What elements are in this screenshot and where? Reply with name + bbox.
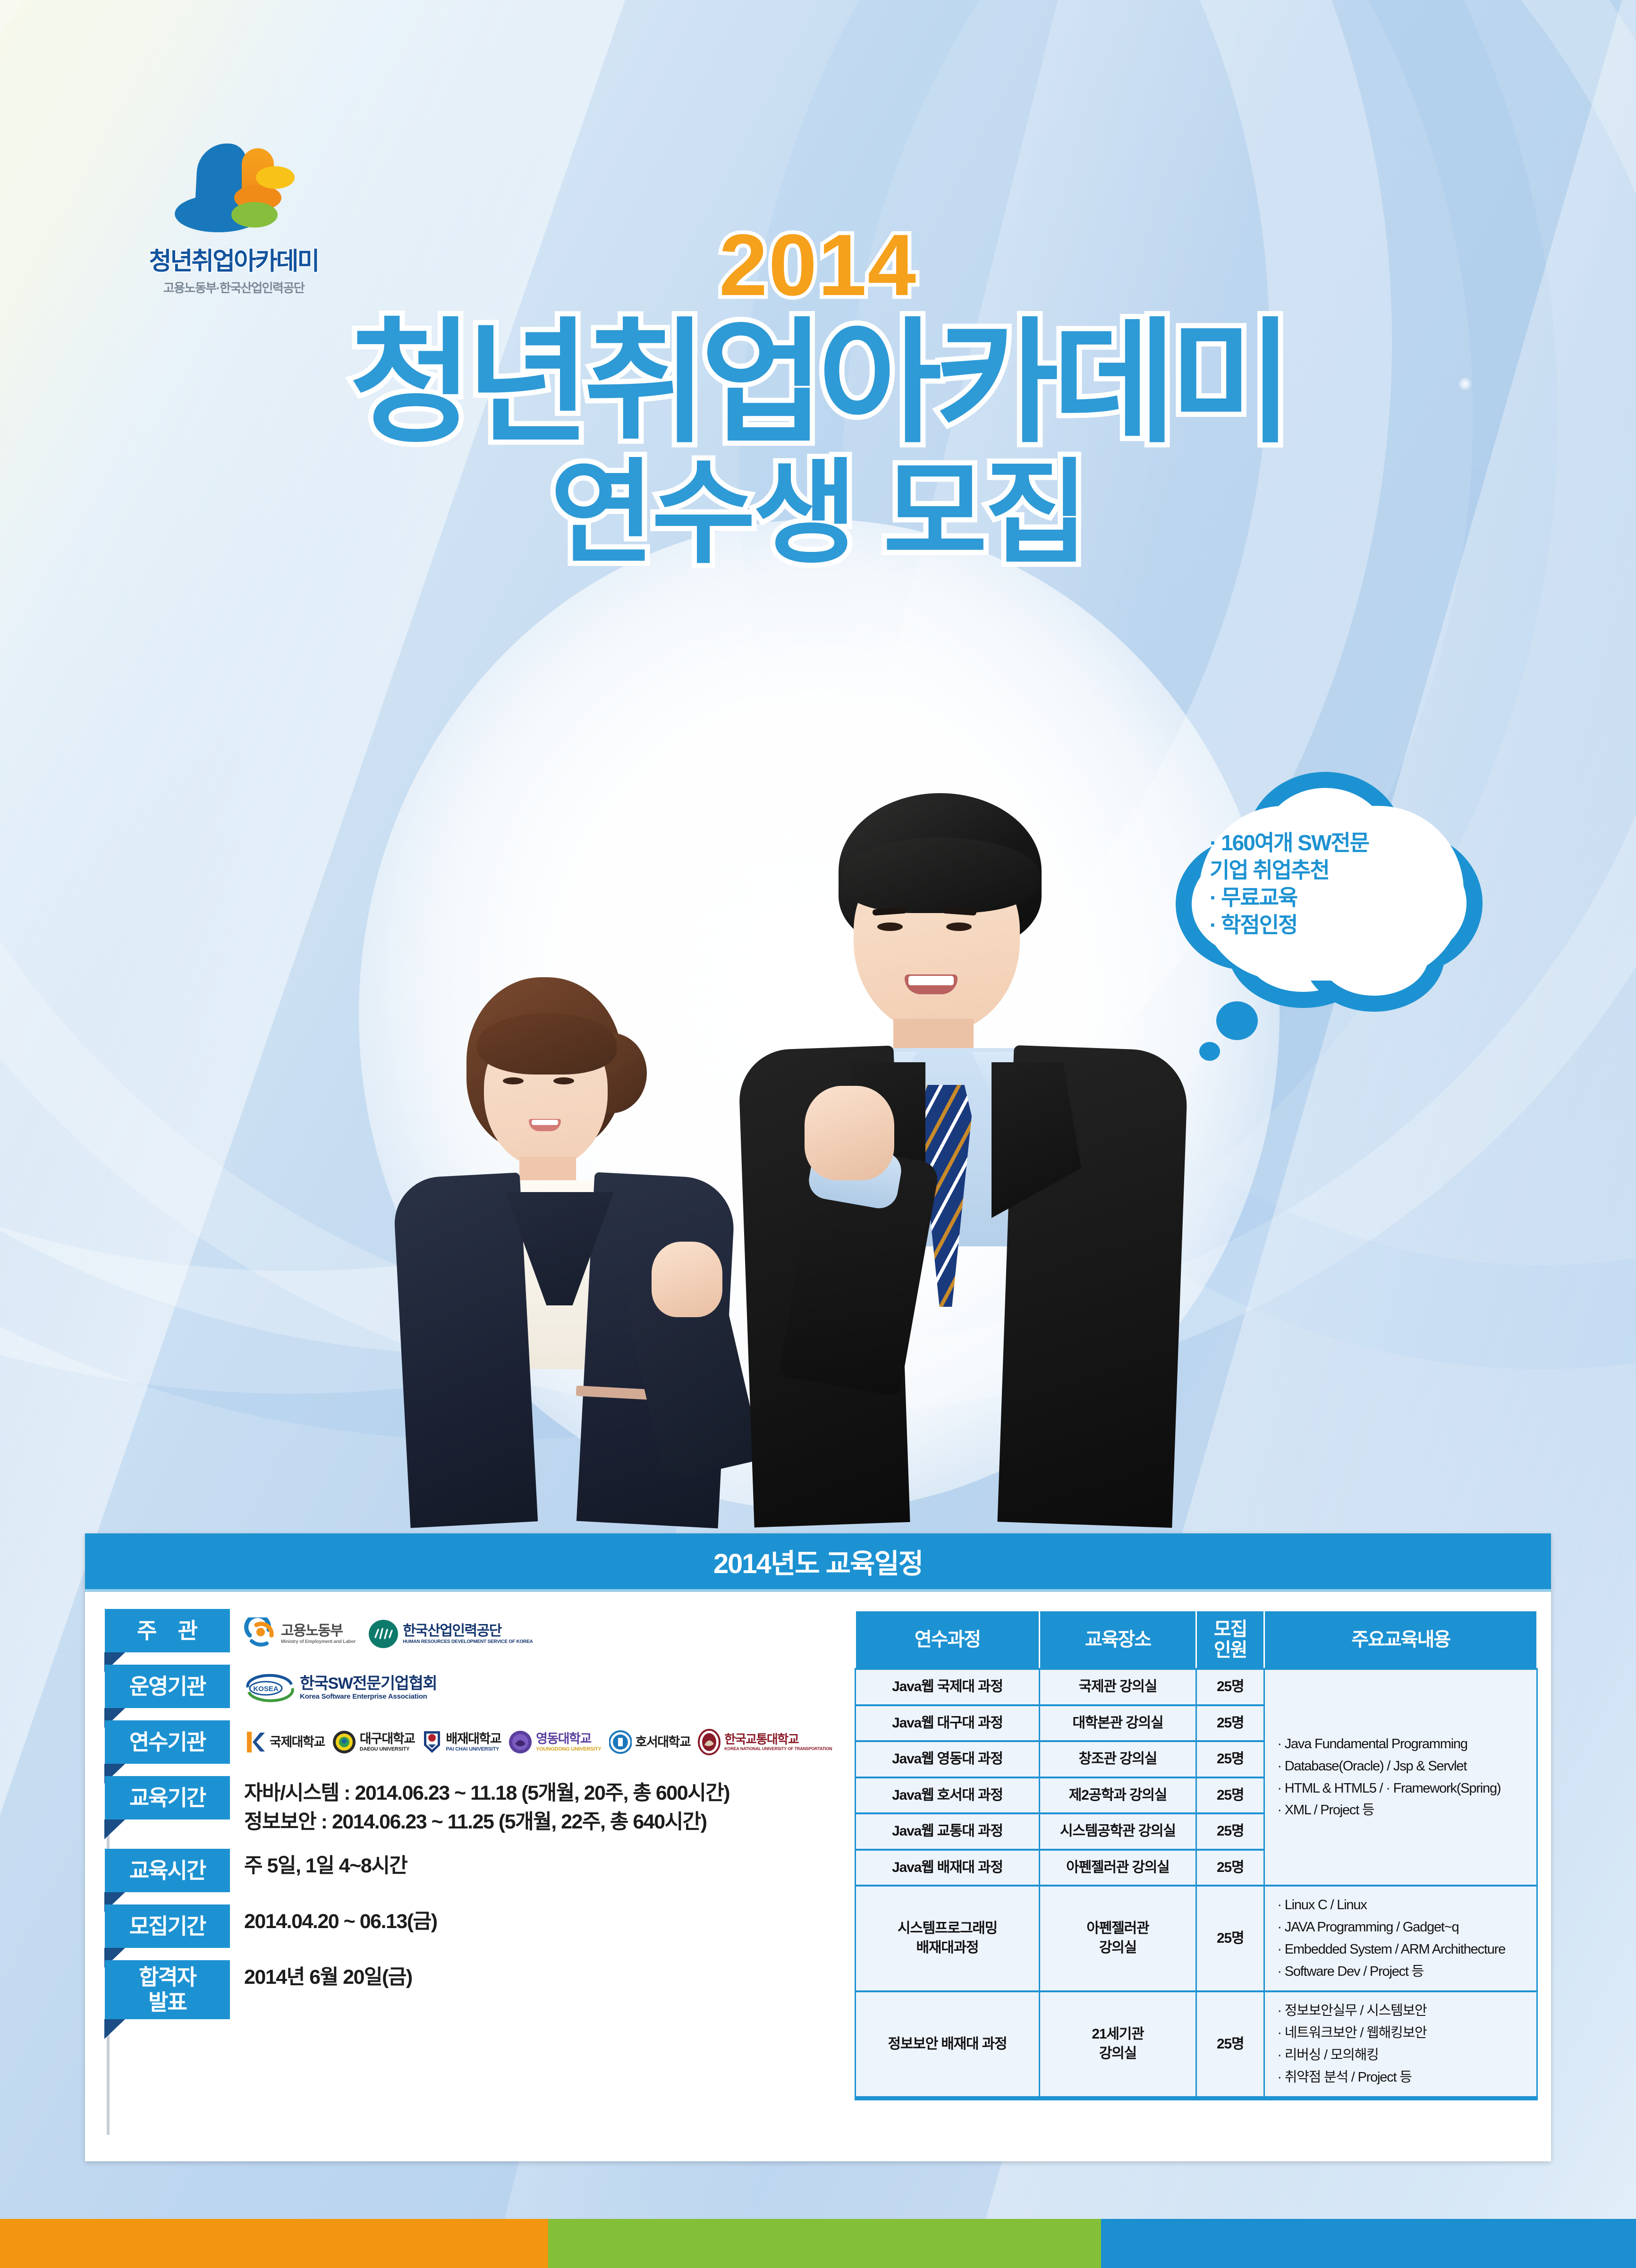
- male-student-figure: [727, 793, 1199, 1525]
- logo-item: 호서대학교: [609, 1730, 691, 1754]
- table-row: 정보보안 배재대 과정 21세기관 강의실 25명 · 정보보안실무 / 시스템…: [856, 1991, 1537, 2098]
- kosea-logo-icon: KOSEA: [244, 1673, 296, 1702]
- info-value: 고용노동부 Ministry of Employment and Labor: [230, 1609, 842, 1650]
- paichai-university-logo-icon: [422, 1729, 442, 1755]
- logo-korean: 한국교통대학교: [724, 1733, 832, 1745]
- logo-item: 영동대학교 YOUNGDONG UNIVERSITY: [509, 1730, 601, 1754]
- info-text-line: 주 5일, 1일 4~8시간: [244, 1852, 842, 1880]
- logo-text: 한국교통대학교 KOREA NATIONAL UNIVERSITY OF TRA…: [724, 1733, 832, 1751]
- logo-text: 한국SW전문기업협회 Korea Software Enterprise Ass…: [300, 1676, 437, 1700]
- info-row-host: 주관 고용노동부: [105, 1609, 842, 1652]
- footer-segment-orange: [0, 2219, 548, 2268]
- poster-root: 청년취업아카데미 고용노동부·한국산업인력공단 2014 청년취업아카데미 연수…: [0, 0, 1636, 2268]
- cell-curriculum: · 정보보안실무 / 시스템보안 · 네트워크보안 / 웹해킹보안 · 리버싱 …: [1264, 1991, 1537, 2098]
- korea-national-university-of-transportation-logo-icon: [698, 1729, 721, 1755]
- cell-quota: 25명: [1196, 1991, 1264, 2098]
- logo-item: 고용노동부 Ministry of Employment and Labor: [244, 1617, 356, 1650]
- logo-english: HUMAN RESOURCES DEVELOPMENT SERVICE OF K…: [403, 1640, 533, 1644]
- logo-item: 배재대학교 PAI CHAI UNIVERSITY: [422, 1729, 501, 1755]
- daegu-university-logo-icon: [332, 1730, 356, 1754]
- cell-location: 창조관 강의실: [1039, 1741, 1196, 1777]
- headline-line2: 연수생 모집: [0, 450, 1636, 577]
- cell-quota: 25명: [1196, 1850, 1264, 1886]
- cell-quota: 25명: [1196, 1777, 1264, 1814]
- table-row: 시스템프로그래밍 배재대과정 아펜젤러관 강의실 25명 · Linux C /…: [856, 1886, 1537, 1991]
- panel-title: 2014년도 교육일정: [85, 1533, 1551, 1589]
- info-value: 2014.04.20 ~ 06.13(금): [230, 1904, 842, 1936]
- logo-text: 배재대학교 PAI CHAI UNIVERSITY: [446, 1733, 501, 1752]
- cell-location: 대학본관 강의실: [1039, 1705, 1196, 1742]
- info-column: 주관 고용노동부: [96, 1609, 842, 2147]
- logo-english: PAI CHAI UNIVERSITY: [446, 1747, 501, 1752]
- logo-korean: 배재대학교: [446, 1733, 501, 1745]
- info-tag: 합격자 발표: [105, 1960, 230, 2019]
- info-value: 자바/시스템 : 2014.06.23 ~ 11.18 (5개월, 20주, 총…: [230, 1776, 842, 1836]
- logo-item: KOSEA 한국SW전문기업협회 Korea Software Enterpri…: [244, 1673, 437, 1702]
- cell-curriculum: · Linux C / Linux · JAVA Programming / G…: [1264, 1886, 1537, 1991]
- cell-quota: 25명: [1196, 1669, 1264, 1705]
- logo-korean: 영동대학교: [536, 1733, 601, 1745]
- info-text-line: 자바/시스템 : 2014.06.23 ~ 11.18 (5개월, 20주, 총…: [244, 1779, 842, 1808]
- info-text-line: 2014.04.20 ~ 06.13(금): [244, 1907, 842, 1936]
- cell-course: Java웹 교통대 과정: [856, 1813, 1040, 1850]
- info-tag: 주관: [105, 1609, 230, 1652]
- table-row: Java웹 국제대 과정 국제관 강의실 25명 · Java Fundamen…: [856, 1669, 1537, 1705]
- cell-location: 국제관 강의실: [1039, 1669, 1196, 1705]
- info-row-training-period: 교육기간 자바/시스템 : 2014.06.23 ~ 11.18 (5개월, 2…: [105, 1776, 842, 1836]
- cell-quota: 25명: [1196, 1741, 1264, 1777]
- logo-english: YOUNGDONG UNIVERSITY: [536, 1747, 601, 1752]
- cell-course: Java웹 국제대 과정: [856, 1669, 1040, 1705]
- footer-segment-blue: [1101, 2219, 1636, 2268]
- bubble-item: · 160여개 SW전문: [1210, 829, 1460, 857]
- bubble-item: · 학점인정: [1210, 912, 1460, 939]
- logo-text: 한국산업인력공단 HUMAN RESOURCES DEVELOPMENT SER…: [403, 1624, 533, 1644]
- info-tag: 교육기간: [105, 1776, 230, 1819]
- info-tag: 교육시간: [105, 1849, 230, 1892]
- table-header-row: 연수과정 교육장소 모집 인원 주요교육내용: [856, 1611, 1537, 1669]
- info-row-results-announcement: 합격자 발표 2014년 6월 20일(금): [105, 1960, 842, 2019]
- logo-english: KOREA NATIONAL UNIVERSITY OF TRANSPORTAT…: [724, 1747, 832, 1751]
- column-header-curriculum: 주요교육내용: [1264, 1611, 1537, 1669]
- headline-line1: 청년취업아카데미: [0, 311, 1636, 457]
- logo-item: 대구대학교 DAEGU UNIVERSITY: [332, 1730, 415, 1754]
- kookje-university-logo-icon: [244, 1730, 266, 1754]
- benefits-thought-bubble: · 160여개 SW전문 기업 취업추천 · 무료교육 · 학점인정: [1176, 772, 1487, 1017]
- students-photo: [359, 722, 1256, 1525]
- university-logo-strip: 국제대학교 대: [244, 1723, 842, 1755]
- column-header-quota: 모집 인원: [1196, 1611, 1264, 1669]
- cell-quota: 25명: [1196, 1886, 1264, 1991]
- info-tag: 운영기관: [105, 1665, 230, 1708]
- cell-location: 아펜젤러관 강의실: [1039, 1850, 1196, 1886]
- bubble-benefit-list: · 160여개 SW전문 기업 취업추천 · 무료교육 · 학점인정: [1210, 829, 1460, 939]
- ministry-of-employment-and-labor-logo-icon: [244, 1617, 277, 1650]
- svg-text:KOSEA: KOSEA: [253, 1685, 279, 1693]
- info-value: 국제대학교 대: [230, 1720, 842, 1755]
- cell-location: 제2공학과 강의실: [1039, 1777, 1196, 1814]
- cell-location: 21세기관 강의실: [1039, 1991, 1196, 2098]
- info-tag: 모집기간: [105, 1904, 230, 1948]
- youngdong-university-logo-icon: [509, 1730, 532, 1754]
- logo-korean: 국제대학교: [270, 1736, 325, 1749]
- logo-english: Korea Software Enterprise Association: [300, 1693, 437, 1700]
- logo-text: 고용노동부 Ministry of Employment and Labor: [281, 1624, 356, 1644]
- bubble-tail-small: [1199, 1042, 1220, 1061]
- logo-item: 한국교통대학교 KOREA NATIONAL UNIVERSITY OF TRA…: [698, 1729, 832, 1755]
- logo-korean: 한국SW전문기업협회: [300, 1676, 437, 1692]
- panel-title-underline: [85, 1589, 1551, 1592]
- cell-course: Java웹 배재대 과정: [856, 1850, 1040, 1886]
- cell-course: 정보보안 배재대 과정: [856, 1991, 1040, 2098]
- info-row-application-period: 모집기간 2014.04.20 ~ 06.13(금): [105, 1904, 842, 1948]
- cell-location: 시스템공학관 강의실: [1039, 1813, 1196, 1850]
- cell-course: Java웹 호서대 과정: [856, 1777, 1040, 1814]
- hoseo-university-logo-icon: [609, 1730, 632, 1754]
- logo-text: 대구대학교 DAEGU UNIVERSITY: [360, 1733, 415, 1752]
- footer-segment-green: [548, 2219, 1101, 2268]
- logo-korean: 고용노동부: [281, 1624, 356, 1638]
- cell-course: 시스템프로그래밍 배재대과정: [856, 1886, 1040, 1991]
- info-text-line: 2014년 6월 20일(금): [244, 1963, 842, 1992]
- bubble-tail-large: [1216, 1001, 1258, 1040]
- logo-text: 호서대학교: [636, 1736, 691, 1749]
- cell-curriculum: · Java Fundamental Programming · Databas…: [1264, 1669, 1537, 1886]
- logo-korean: 호서대학교: [636, 1736, 691, 1749]
- cell-course: Java웹 대구대 과정: [856, 1705, 1040, 1742]
- headline-year: 2014: [0, 222, 1636, 309]
- info-row-operator: 운영기관 KOSEA 한국SW전문: [105, 1665, 842, 1708]
- cell-quota: 25명: [1196, 1813, 1264, 1850]
- cell-location: 아펜젤러관 강의실: [1039, 1886, 1196, 1991]
- info-text-line: 정보보안 : 2014.06.23 ~ 11.25 (5개월, 22주, 총 6…: [244, 1808, 842, 1836]
- schedule-table: 연수과정 교육장소 모집 인원 주요교육내용 Java웹 국제대 과정 국제관 …: [855, 1610, 1538, 2100]
- cell-course: Java웹 영동대 과정: [856, 1741, 1040, 1777]
- column-header-location: 교육장소: [1039, 1611, 1196, 1669]
- info-row-training-institutions: 연수기관 국제대학교: [105, 1720, 842, 1764]
- logo-english: DAEGU UNIVERSITY: [360, 1747, 415, 1752]
- logo-korean: 한국산업인력공단: [403, 1624, 533, 1638]
- cell-quota: 25명: [1196, 1705, 1264, 1742]
- schedule-panel: 2014년도 교육일정 주관: [85, 1533, 1551, 2161]
- bubble-item: · 무료교육: [1210, 884, 1460, 912]
- logo-text: 영동대학교 YOUNGDONG UNIVERSITY: [536, 1733, 601, 1752]
- logo-item: 한국산업인력공단 HUMAN RESOURCES DEVELOPMENT SER…: [368, 1618, 533, 1650]
- operator-logo-strip: KOSEA 한국SW전문기업협회 Korea Software Enterpri…: [244, 1667, 842, 1702]
- host-logo-strip: 고용노동부 Ministry of Employment and Labor: [244, 1612, 842, 1650]
- hrd-korea-logo-icon: [368, 1618, 399, 1650]
- info-tag: 연수기관: [105, 1720, 230, 1764]
- bubble-item: 기업 취업추천: [1210, 857, 1460, 884]
- headline-block: 2014 청년취업아카데미 연수생 모집: [0, 222, 1636, 577]
- info-row-training-hours: 교육시간 주 5일, 1일 4~8시간: [105, 1849, 842, 1892]
- schedule-table-column: 연수과정 교육장소 모집 인원 주요교육내용 Java웹 국제대 과정 국제관 …: [842, 1609, 1538, 2147]
- logo-english: Ministry of Employment and Labor: [281, 1640, 356, 1644]
- info-value: 2014년 6월 20일(금): [230, 1960, 842, 1992]
- logo-text: 국제대학교: [270, 1736, 325, 1749]
- column-header-course: 연수과정: [856, 1611, 1040, 1669]
- footer-color-bar: [0, 2219, 1636, 2268]
- logo-item: 국제대학교: [244, 1730, 325, 1754]
- female-student-figure: [387, 977, 746, 1525]
- logo-korean: 대구대학교: [360, 1733, 415, 1745]
- info-value: KOSEA 한국SW전문기업협회 Korea Software Enterpri…: [230, 1665, 842, 1702]
- info-value: 주 5일, 1일 4~8시간: [230, 1849, 842, 1880]
